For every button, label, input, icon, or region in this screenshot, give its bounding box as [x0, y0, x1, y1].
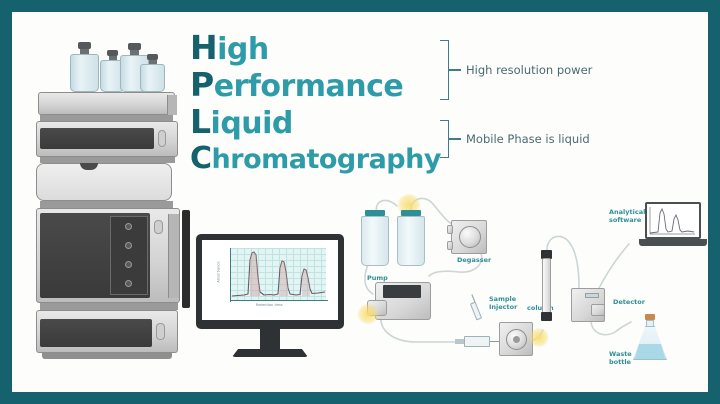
- instrument-side-panel: [167, 95, 177, 115]
- monitor: Absorbance Retention time: [196, 234, 344, 364]
- instrument-bottle-cap: [78, 42, 91, 49]
- laptop-chromatogram: [648, 205, 698, 236]
- instrument-bottle-cap: [128, 43, 141, 50]
- bracket-stem: [449, 138, 461, 140]
- hplc-instrument-stack: [30, 42, 190, 387]
- instrument-vial-knob: [125, 261, 132, 268]
- detector-port: [591, 304, 605, 316]
- monitor-neck: [260, 329, 280, 351]
- instrument-module-gap: [40, 303, 178, 310]
- title-rest-performance: erformance: [214, 69, 404, 104]
- bracket-stem: [449, 69, 461, 71]
- instrument-module-handle: [156, 323, 165, 340]
- hplc-flow-diagram: Pump Degasser Sample Injector: [347, 192, 705, 392]
- title-line-liquid: Liquid: [190, 104, 440, 141]
- label-waste-bottle-line1: Waste: [609, 350, 632, 358]
- instrument-vial-knob: [125, 242, 132, 249]
- title-cap-l: L: [190, 102, 211, 141]
- solvent-bottle-4: [140, 64, 165, 92]
- instrument-module-tray: [38, 92, 175, 115]
- title-line-performance: Performance: [190, 67, 440, 104]
- title-cap-p: P: [190, 65, 214, 104]
- annotation-mobile-phase: Mobile Phase is liquid: [466, 132, 590, 146]
- column-fitting-bottom: [541, 312, 552, 321]
- flask-neck: [646, 320, 654, 327]
- instrument-side-panel: [168, 214, 179, 298]
- label-sample-injector-line1: Sample: [489, 295, 516, 303]
- instrument-module-face: [40, 128, 154, 149]
- instrument-module-handle: [154, 220, 163, 234]
- injector-valve-hub: [513, 336, 520, 343]
- laptop-base: [639, 239, 707, 246]
- title-rest-chromatography: hromatography: [212, 144, 441, 175]
- instrument-vial-knob: [125, 280, 132, 287]
- laptop-screen: [645, 202, 701, 239]
- instrument-module-detector: [36, 163, 172, 201]
- chromatogram-chart: Absorbance Retention time: [220, 248, 328, 310]
- solvent-bottle-a: [361, 216, 389, 266]
- label-analytical-software-line1: Analytical: [609, 208, 645, 216]
- title-line-chromatography: Chromatography: [190, 141, 440, 177]
- title-cap-h: H: [190, 28, 217, 67]
- monitor-bezel: Absorbance Retention time: [196, 234, 344, 329]
- connector-glow: [357, 304, 379, 324]
- label-sample-injector: Sample Injector: [489, 295, 517, 311]
- monitor-screen: Absorbance Retention time: [202, 240, 338, 320]
- solvent-bottle-b: [397, 216, 425, 266]
- bracket-mobile-phase: [440, 120, 449, 158]
- label-waste-bottle-line2: bottle: [609, 358, 631, 366]
- connector-glow: [529, 328, 549, 347]
- title-rest-liquid: iquid: [211, 106, 293, 141]
- instrument-module-handle: [158, 130, 166, 147]
- bracket-high-resolution: [440, 40, 449, 100]
- chromatogram-x-axis-label: Retention time: [256, 303, 283, 307]
- label-waste-bottle: Waste bottle: [609, 350, 632, 366]
- solvent-bottle-1: [70, 54, 99, 92]
- syringe-needle: [490, 341, 499, 342]
- chromatogram-y-axis-label: Absorbance: [217, 261, 221, 282]
- degasser-mount: [447, 241, 453, 250]
- label-detector: Detector: [613, 298, 645, 306]
- illustration-canvas: High Performance Liquid Chromatography H…: [12, 12, 708, 392]
- monitor-base: [232, 349, 308, 357]
- label-analytical-software-line2: software: [609, 216, 641, 224]
- waste-flask-liquid: [635, 344, 665, 359]
- pump-display: [383, 285, 421, 298]
- instrument-vial-knob: [125, 223, 132, 230]
- detector-display: [585, 293, 599, 298]
- label-analytical-software: Analytical software: [609, 208, 645, 224]
- annotation-high-resolution: High resolution power: [466, 63, 592, 77]
- degasser-disc: [459, 226, 481, 248]
- instrument-base-face: [40, 319, 152, 347]
- syringe-barrel-horizontal: [464, 336, 490, 347]
- instrument-foot: [42, 353, 172, 359]
- screenshot-root: High Performance Liquid Chromatography H…: [0, 0, 720, 404]
- title-cap-c: C: [190, 141, 212, 176]
- label-pump: Pump: [367, 274, 388, 282]
- syringe-plunger: [455, 339, 464, 344]
- label-degasser: Degasser: [457, 256, 491, 264]
- title-line-high: High: [190, 30, 440, 67]
- instrument-module-gap: [40, 201, 173, 208]
- degasser-mount: [447, 225, 453, 234]
- page-title: High Performance Liquid Chromatography: [190, 30, 440, 177]
- title-rest-high: igh: [217, 32, 269, 67]
- chromatogram-trace: [230, 248, 328, 302]
- column-body: [542, 258, 551, 314]
- label-sample-injector-line2: Injector: [489, 303, 517, 311]
- instrument-rear-strip: [182, 210, 190, 308]
